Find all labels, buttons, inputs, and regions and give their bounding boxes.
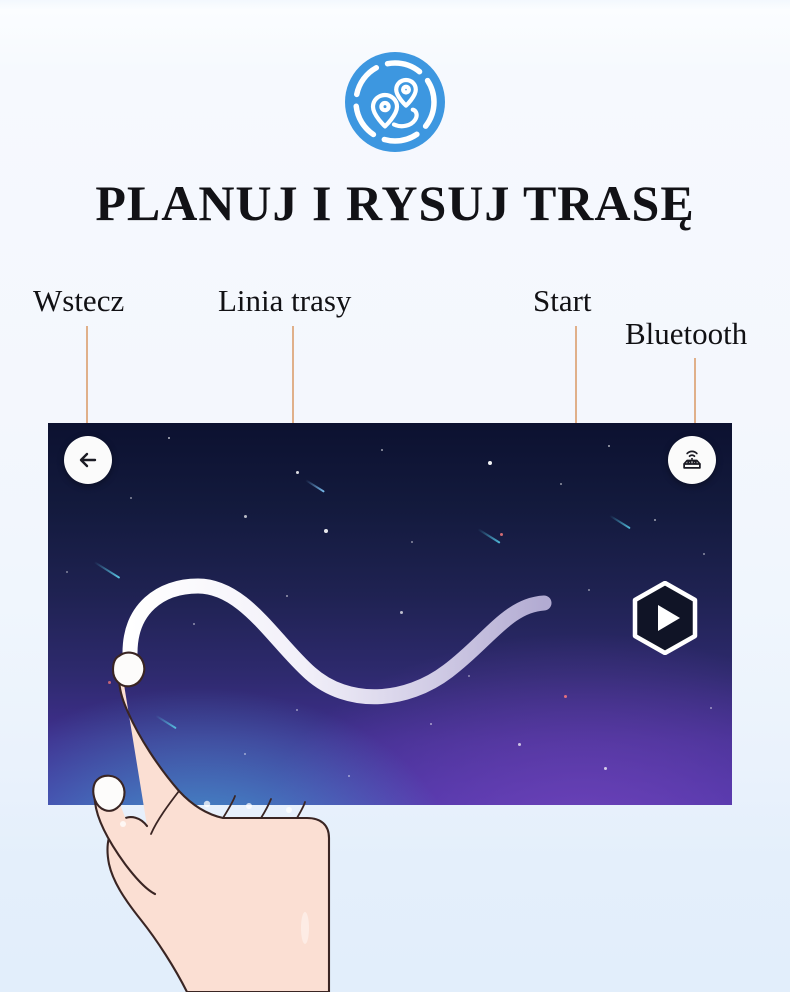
arrow-left-icon xyxy=(76,448,100,472)
callout-label-wstecz: Wstecz xyxy=(33,283,124,319)
page-title: PLANUJ I RYSUJ TRASĘ xyxy=(0,174,790,232)
callout-label-bluetooth: Bluetooth xyxy=(625,316,747,352)
device-screen xyxy=(48,423,732,805)
start-button[interactable] xyxy=(631,581,699,655)
back-button[interactable] xyxy=(64,436,112,484)
callout-label-start: Start xyxy=(533,283,592,319)
bluetooth-button[interactable] xyxy=(668,436,716,484)
route-line[interactable] xyxy=(48,423,732,805)
callout-label-linia-trasy: Linia trasy xyxy=(218,283,351,319)
header-icon-container xyxy=(0,52,790,157)
hexagon-shape xyxy=(631,581,699,655)
wireless-device-icon xyxy=(678,446,706,474)
route-pins-icon xyxy=(345,52,445,152)
